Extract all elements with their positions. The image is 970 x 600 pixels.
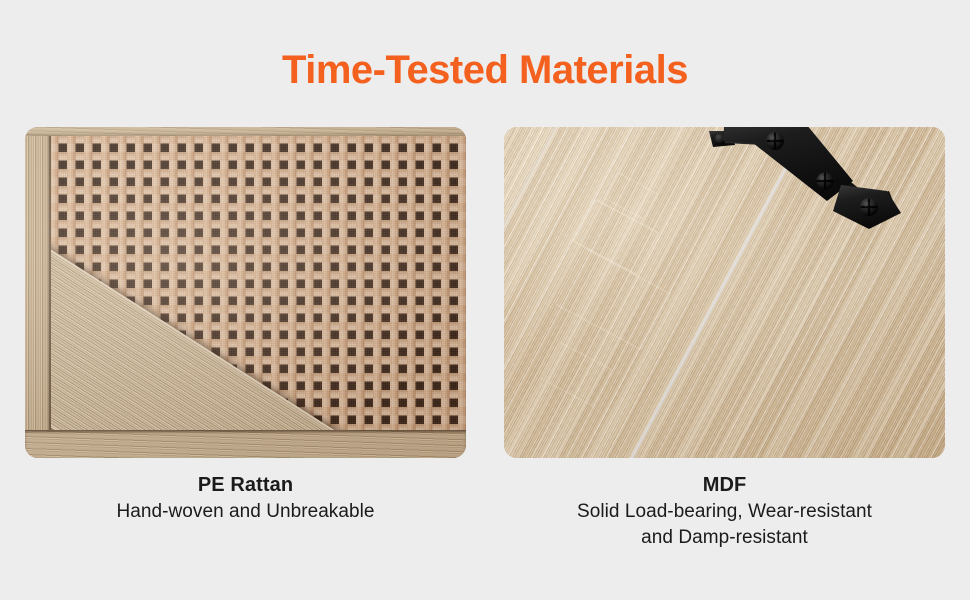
material-description-mdf: Solid Load-bearing, Wear-resistant and D… [504, 499, 945, 551]
material-description-line: Hand-woven and Unbreakable [25, 499, 466, 525]
material-image-mdf [504, 127, 945, 458]
material-captions: PE Rattan Hand-woven and Unbreakable MDF… [25, 472, 945, 551]
material-name-mdf: MDF [504, 472, 945, 498]
infographic-page: Time-Tested Materials [0, 0, 970, 600]
material-description-pe-rattan: Hand-woven and Unbreakable [25, 499, 466, 525]
rattan-lighting-overlay [25, 127, 466, 458]
caption-mdf: MDF Solid Load-bearing, Wear-resistant a… [504, 472, 945, 551]
caption-pe-rattan: PE Rattan Hand-woven and Unbreakable [25, 472, 466, 551]
material-description-line: Solid Load-bearing, Wear-resistant [504, 499, 945, 525]
material-panels [25, 127, 945, 458]
material-name-pe-rattan: PE Rattan [25, 472, 466, 498]
page-title: Time-Tested Materials [0, 48, 970, 93]
mdf-lighting-overlay [504, 127, 945, 458]
material-image-pe-rattan [25, 127, 466, 458]
material-description-line: and Damp-resistant [504, 525, 945, 551]
